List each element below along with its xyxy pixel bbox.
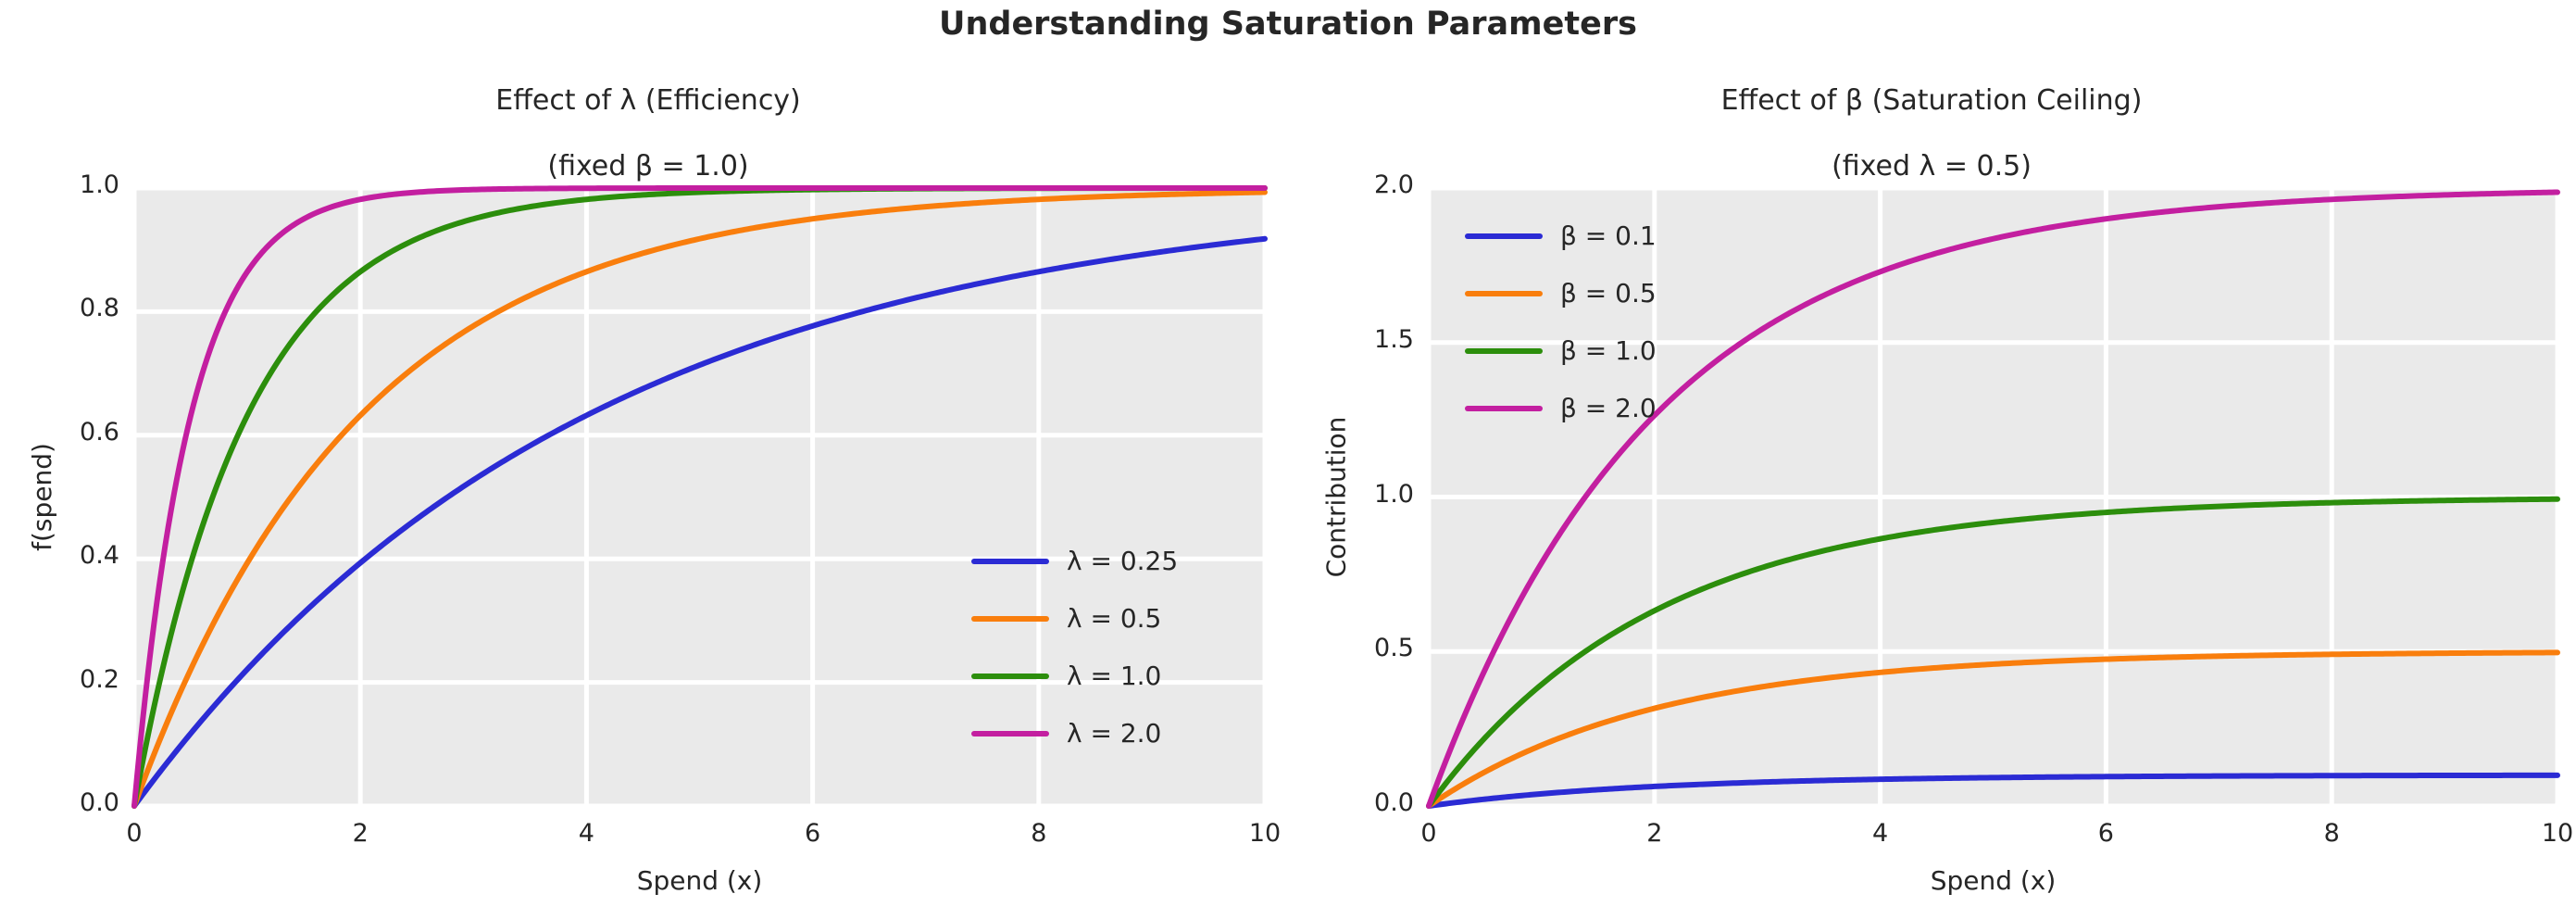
x-tick-label: 4: [1844, 819, 1918, 848]
y-tick-label: 0.4: [80, 541, 119, 570]
y-tick-label: 0.5: [1374, 634, 1414, 662]
axes-background: [134, 188, 1265, 806]
y-tick-label: 0.0: [80, 788, 119, 817]
x-tick-label: 2: [323, 819, 397, 848]
x-axis-label: Spend (x): [1429, 865, 2557, 896]
x-tick-label: 6: [2069, 819, 2143, 848]
x-tick-label: 8: [2295, 819, 2369, 848]
x-tick-label: 10: [2520, 819, 2576, 848]
legend-label-1: λ = 0.5: [1067, 603, 1161, 634]
x-tick-label: 4: [549, 819, 623, 848]
y-tick-label: 1.0: [1374, 480, 1414, 509]
x-tick-label: 2: [1618, 819, 1692, 848]
legend-label-0: β = 0.1: [1560, 220, 1657, 251]
legend-label-3: β = 2.0: [1560, 393, 1657, 423]
legend-label-1: β = 0.5: [1560, 278, 1657, 308]
y-tick-label: 0.2: [80, 665, 119, 694]
y-tick-label: 1.5: [1374, 325, 1414, 354]
legend-label-2: β = 1.0: [1560, 335, 1657, 366]
legend-label-0: λ = 0.25: [1067, 546, 1178, 576]
x-tick-label: 0: [97, 819, 171, 848]
legend-label-2: λ = 1.0: [1067, 661, 1161, 691]
subplot-effect-of-lambda: Effect of λ (Efficiency) (fixed β = 1.0)…: [0, 0, 1296, 919]
x-tick-label: 8: [1002, 819, 1076, 848]
x-tick-label: 6: [776, 819, 850, 848]
y-tick-label: 0.8: [80, 294, 119, 322]
y-tick-label: 1.0: [80, 170, 119, 199]
x-tick-label: 0: [1392, 819, 1466, 848]
y-tick-label: 0.6: [80, 418, 119, 447]
y-axis-label: f(spend): [26, 443, 56, 551]
x-axis-label: Spend (x): [134, 865, 1265, 896]
subplot-effect-of-beta: Effect of β (Saturation Ceiling) (fixed …: [1287, 0, 2576, 919]
plot-area-right: β = 0.1β = 0.5β = 1.0β = 2.0: [1287, 0, 2576, 919]
legend-label-3: λ = 2.0: [1067, 718, 1161, 749]
y-tick-label: 2.0: [1374, 170, 1414, 199]
figure-canvas: Understanding Saturation Parameters Effe…: [0, 0, 2576, 919]
y-tick-label: 0.0: [1374, 788, 1414, 817]
y-axis-label: Contribution: [1320, 417, 1351, 578]
plot-area-left: λ = 0.25λ = 0.5λ = 1.0λ = 2.0: [0, 0, 1296, 919]
